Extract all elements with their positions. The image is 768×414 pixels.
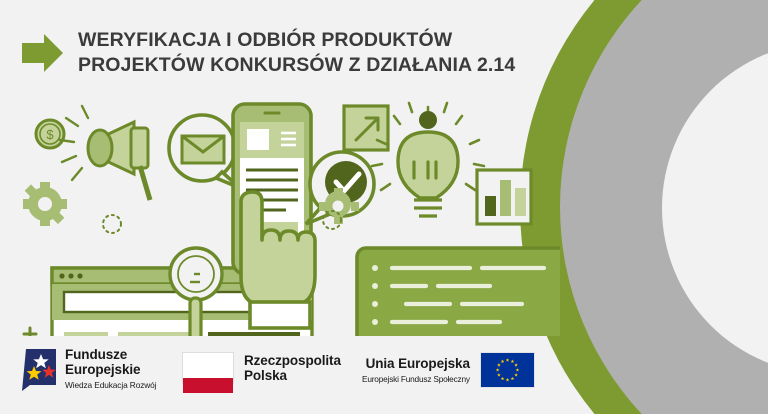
polska-line-1: Rzeczpospolita xyxy=(244,353,341,368)
banner-header: WERYFIKACJA I ODBIÓR PRODUKTÓW PROJEKTÓW… xyxy=(0,0,560,104)
title-line-1: WERYFIKACJA I ODBIÓR PRODUKTÓW xyxy=(78,29,452,51)
fundusze-line-1: Fundusze xyxy=(65,348,156,363)
megaphone-icon xyxy=(60,106,150,200)
fundusze-subtitle: Wiedza Edukacja Rozwój xyxy=(65,379,156,391)
funding-logos-footer: Fundusze Europejskie Wiedza Edukacja Roz… xyxy=(0,340,560,406)
poland-flag-icon xyxy=(182,352,234,384)
fundusze-europejskie-mark-icon xyxy=(22,349,56,391)
unia-europejska-logo: Unia Europejska Europejski Fundusz Społe… xyxy=(362,352,535,388)
european-union-flag-icon xyxy=(480,352,535,388)
page-title: WERYFIKACJA I ODBIÓR PRODUKTÓW PROJEKTÓW… xyxy=(78,28,548,78)
hero-illustration: $ xyxy=(0,96,560,336)
coin-dollar-icon: $ xyxy=(36,120,64,148)
eye-icon xyxy=(419,108,560,132)
plus-icon xyxy=(24,328,36,336)
fundusze-europejskie-logo: Fundusze Europejskie Wiedza Edukacja Roz… xyxy=(22,348,156,391)
rzeczpospolita-polska-logo: Rzeczpospolita Polska xyxy=(182,352,341,384)
svg-text:$: $ xyxy=(46,127,54,142)
envelope-bubble-icon xyxy=(169,115,240,188)
unia-subtitle: Europejski Fundusz Społeczny xyxy=(362,373,470,385)
bar-chart-icon xyxy=(477,170,531,224)
illustration-svg: $ xyxy=(0,96,560,336)
polska-line-2: Polska xyxy=(244,368,341,383)
unia-line-1: Unia Europejska xyxy=(362,356,470,371)
fundusze-line-2: Europejskie xyxy=(65,363,156,378)
arrow-right-icon xyxy=(22,33,64,73)
gear-icon xyxy=(23,182,67,226)
banner-canvas: WERYFIKACJA I ODBIÓR PRODUKTÓW PROJEKTÓW… xyxy=(0,0,768,414)
laptop-code-icon xyxy=(340,248,560,336)
expand-arrow-icon xyxy=(344,106,388,150)
title-line-2: PROJEKTÓW KONKURSÓW Z DZIAŁANIA 2.14 xyxy=(78,53,548,78)
